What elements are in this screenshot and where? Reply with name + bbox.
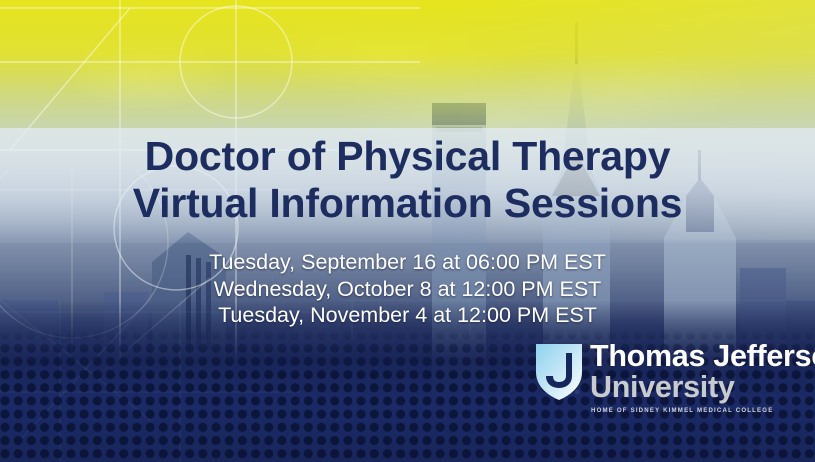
logo-line-university: University (590, 371, 811, 404)
jefferson-shield-icon (533, 342, 585, 404)
session-date-1: Tuesday, September 16 at 06:00 PM EST (0, 249, 815, 276)
presentation-slide: Doctor of Physical Therapy Virtual Infor… (0, 0, 815, 462)
session-date-3: Tuesday, November 4 at 12:00 PM EST (0, 302, 815, 329)
thomas-jefferson-university-logo: Thomas Jefferson University HOME OF SIDN… (533, 340, 811, 420)
session-dates-list: Tuesday, September 16 at 06:00 PM EST We… (0, 249, 815, 329)
logo-wordmark: Thomas Jefferson University HOME OF SIDN… (590, 340, 811, 414)
logo-line-thomas-jefferson: Thomas Jefferson (590, 340, 811, 373)
page-title: Doctor of Physical Therapy Virtual Infor… (0, 133, 815, 227)
session-date-2: Wednesday, October 8 at 12:00 PM EST (0, 276, 815, 303)
logo-tagline: HOME OF SIDNEY KIMMEL MEDICAL COLLEGE (590, 407, 811, 414)
